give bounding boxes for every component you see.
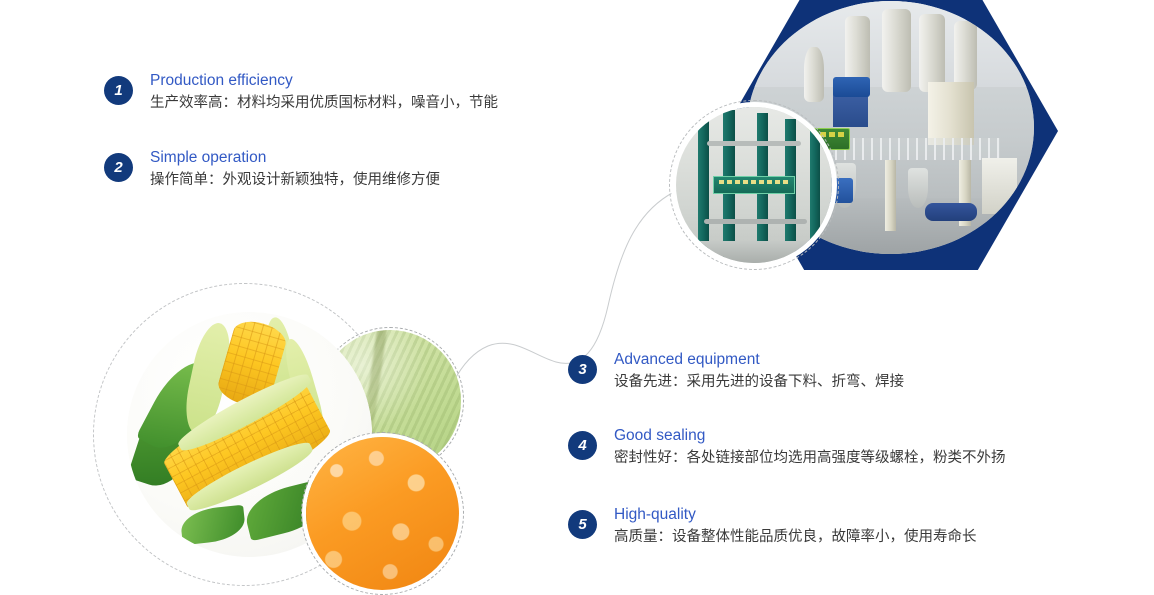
feature-number-badge-3: 3 (568, 355, 597, 384)
feature-title-5: High-quality (614, 505, 977, 525)
feature-infographic: 1 Production efficiency 生产效率高：材料均采用优质国标材… (0, 0, 1154, 591)
feature-desc-2: 操作简单：外观设计新颖独特，使用维修方便 (150, 169, 440, 191)
feature-number-badge-1: 1 (104, 76, 133, 105)
corn-kernel-photo (306, 437, 459, 590)
photo-green-mill-backdrop (676, 107, 832, 263)
feature-desc-3: 设备先进：采用先进的设备下料、折弯、焊接 (614, 371, 904, 393)
feature-title-1: Production efficiency (150, 71, 498, 91)
feature-text-block-1: Production efficiency 生产效率高：材料均采用优质国标材料，… (150, 71, 498, 114)
corn-kernel-texture (306, 437, 459, 590)
feature-number-badge-4: 4 (568, 431, 597, 460)
feature-number-badge-5: 5 (568, 510, 597, 539)
feature-text-block-2: Simple operation 操作简单：外观设计新颖独特，使用维修方便 (150, 148, 440, 191)
feature-desc-1: 生产效率高：材料均采用优质国标材料，噪音小，节能 (150, 92, 498, 114)
feature-item-3: 3 Advanced equipment 设备先进：采用先进的设备下料、折弯、焊… (568, 350, 904, 393)
feature-desc-5: 高质量：设备整体性能品质优良，故障率小，使用寿命长 (614, 526, 977, 548)
feature-item-1: 1 Production efficiency 生产效率高：材料均采用优质国标材… (104, 71, 498, 114)
green-milling-plant-photo (676, 107, 832, 263)
feature-desc-4: 密封性好：各处链接部位均选用高强度等级螺栓，粉类不外扬 (614, 447, 1006, 469)
feature-title-2: Simple operation (150, 148, 440, 168)
feature-text-block-4: Good sealing 密封性好：各处链接部位均选用高强度等级螺栓，粉类不外扬 (614, 426, 1006, 469)
feature-text-block-3: Advanced equipment 设备先进：采用先进的设备下料、折弯、焊接 (614, 350, 904, 393)
feature-item-4: 4 Good sealing 密封性好：各处链接部位均选用高强度等级螺栓，粉类不… (568, 426, 1006, 469)
feature-title-3: Advanced equipment (614, 350, 904, 370)
feature-title-4: Good sealing (614, 426, 1006, 446)
feature-item-5: 5 High-quality 高质量：设备整体性能品质优良，故障率小，使用寿命长 (568, 505, 977, 548)
feature-text-block-5: High-quality 高质量：设备整体性能品质优良，故障率小，使用寿命长 (614, 505, 977, 548)
feature-item-2: 2 Simple operation 操作简单：外观设计新颖独特，使用维修方便 (104, 148, 440, 191)
feature-number-badge-2: 2 (104, 153, 133, 182)
